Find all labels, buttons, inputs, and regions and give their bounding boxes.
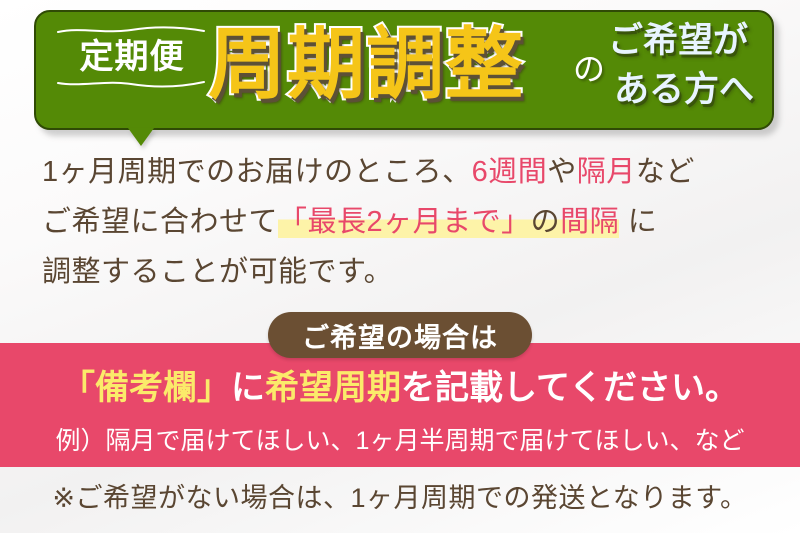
band-main-part-2: に [231,369,265,407]
body-line-1-part-1: 1ヶ月周期でのお届けのところ、 [42,156,472,188]
body-line-2-highlight-2: 間隔 [560,206,619,238]
header-wish-group: ご希望が ある方へ [608,16,773,114]
subscription-label: 定期便 [56,35,208,79]
speech-bubble-tail-icon [128,128,154,146]
body-line-1-part-3: など [636,156,695,188]
body-line-1-part-2: や [547,156,577,188]
header-wish-line-1: ご希望が [608,16,773,65]
body-line-2-part-1: ご希望に合わせて [42,206,278,238]
request-case-badge-label: ご希望の場合は [302,316,498,355]
promo-banner: 定期便 周期調整 の ご希望が ある方へ 1ヶ月周期でのお届けのところ、6週間や… [0,0,800,533]
header-particle: の [573,53,605,85]
band-main-part-1: 「備考欄」 [61,369,231,407]
header-main-title: 周期調整 [208,14,524,114]
body-line-3: 調整することが可能です。 [0,247,800,297]
body-line-1: 1ヶ月周期でのお届けのところ、6週間や隔月など [0,147,800,197]
body-line-2-part-3: に [619,206,657,238]
wave-rule-top-icon [56,26,206,35]
band-example-text: 例）隔月で届けてほしい、1ヶ月半周期で届けてほしい、など [0,423,800,459]
band-main-message: 「備考欄」に希望周期を記載してください。 [0,365,800,411]
body-line-2-highlight-1: 「最長2ヶ月まで」 [278,206,531,238]
body-line-1-highlight-1: 6週間 [472,156,548,188]
body-line-2-part-2: の [531,206,561,238]
band-main-part-4: を記載してください。 [401,369,739,407]
header-wish-line-2: ある方へ [614,65,773,114]
footer-note: ※ご希望がない場合は、1ヶ月周期での発送となります。 [0,478,800,518]
body-line-1-highlight-2: 隔月 [577,156,636,188]
subscription-label-group: 定期便 [56,26,208,88]
body-line-2: ご希望に合わせて「最長2ヶ月まで」の間隔 に [0,197,800,247]
body-copy: 1ヶ月周期でのお届けのところ、6週間や隔月など ご希望に合わせて「最長2ヶ月まで… [0,147,800,297]
wave-rule-bottom-icon [56,79,206,88]
request-case-badge: ご希望の場合は [268,312,532,358]
band-main-part-3: 希望周期 [265,369,401,407]
